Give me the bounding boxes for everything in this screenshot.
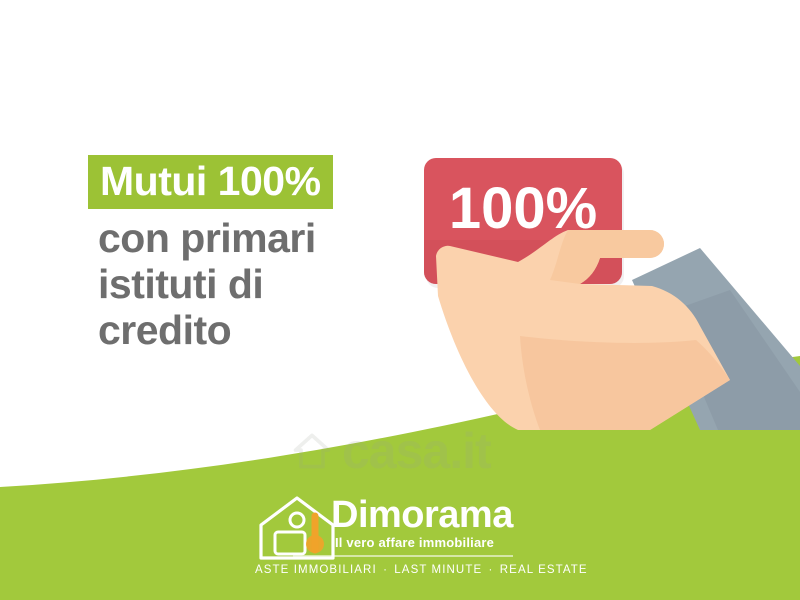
logo-subtitle-separator-2: ·: [487, 564, 496, 576]
logo-subtitle-part-2: LAST MINUTE: [394, 564, 482, 576]
promo-banner: casa.it Mutui 100% con primari istituti …: [0, 0, 800, 600]
logo-orange-dot: [306, 535, 324, 553]
logo-wordmark: Dimorama: [331, 496, 513, 534]
headline-line-3: credito: [98, 307, 428, 353]
headline-line-2: istituti di: [98, 261, 428, 307]
logo-tagline: Il vero affare immobiliare: [335, 535, 494, 550]
logo-subtitle-part-3: REAL ESTATE: [500, 564, 588, 576]
headline-highlight: Mutui 100%: [88, 155, 333, 209]
house-card-icon: [275, 532, 305, 554]
logo-subtitle: ASTE IMMOBILIARI · LAST MINUTE · REAL ES…: [255, 564, 545, 576]
dimorama-logo: Dimorama Il vero affare immobiliare ASTE…: [253, 492, 553, 587]
logo-subtitle-separator-1: ·: [381, 564, 390, 576]
dimorama-house-icon: [253, 492, 341, 564]
headline-line-1: con primari: [98, 215, 428, 261]
logo-subtitle-part-1: ASTE IMMOBILIARI: [255, 564, 377, 576]
hand-holding-card-illustration: 100%: [400, 130, 800, 430]
logo-divider: [293, 555, 513, 557]
headline-block: Mutui 100% con primari istituti di credi…: [98, 155, 428, 353]
house-window-icon: [290, 513, 304, 527]
